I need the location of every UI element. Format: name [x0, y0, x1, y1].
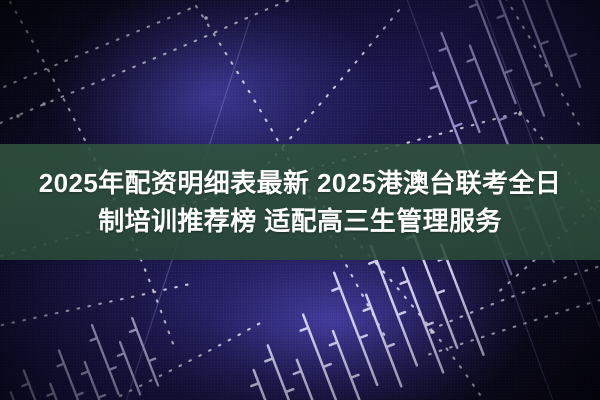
banner-image: 2025年配资明细表最新 2025港澳台联考全日 制培训推荐榜 适配高三生管理服… [0, 0, 600, 400]
title-line-2: 制培训推荐榜 适配高三生管理服务 [98, 202, 502, 240]
title-line-1: 2025年配资明细表最新 2025港澳台联考全日 [39, 164, 562, 202]
title-band: 2025年配资明细表最新 2025港澳台联考全日 制培训推荐榜 适配高三生管理服… [0, 144, 600, 260]
